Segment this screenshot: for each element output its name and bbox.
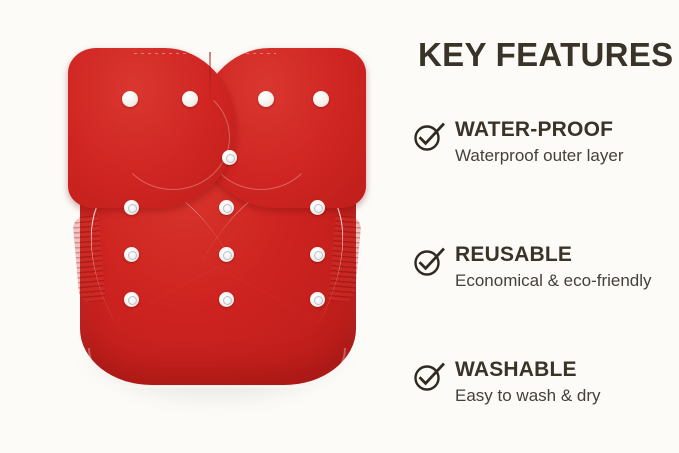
feature-item-washable: WASHABLE Easy to wash & dry [412,358,674,407]
feature-description: Economical & eco-friendly [455,270,655,292]
snap-button-body [219,200,234,215]
snap-button-wing [258,91,274,107]
check-circle-icon [412,119,446,153]
feature-text-block: WASHABLE Easy to wash & dry [455,358,674,407]
product-image-cloth-diaper [0,0,400,453]
feature-title: REUSABLE [455,243,674,267]
feature-description: Easy to wash & dry [455,385,655,407]
snap-button-body [310,200,325,215]
check-circle-icon [412,244,446,278]
snap-button-body [219,292,234,307]
snap-button-wing [122,91,138,107]
feature-text-block: WATER-PROOF Waterproof outer layer [455,118,674,167]
snap-button-body [310,292,325,307]
page-title: KEY FEATURES [418,36,673,74]
top-waist-stitch [134,53,276,54]
feature-text-block: REUSABLE Economical & eco-friendly [455,243,674,292]
center-seam [209,52,211,104]
snap-button-wing [182,91,198,107]
feature-description: Waterproof outer layer [455,145,655,167]
feature-item-reusable: REUSABLE Economical & eco-friendly [412,243,674,292]
snap-button-center [222,150,237,165]
snap-button-body [124,247,139,262]
snap-button-body [124,200,139,215]
features-panel: KEY FEATURES WATER-PROOF Waterproof oute… [400,0,679,453]
diaper-bottom-hem [88,348,346,388]
snap-button-body [310,247,325,262]
feature-item-water-proof: WATER-PROOF Waterproof outer layer [412,118,674,167]
diaper-illustration [62,48,372,388]
check-circle-icon [412,359,446,393]
snap-button-body [124,292,139,307]
feature-title: WATER-PROOF [455,118,674,142]
snap-button-body [219,247,234,262]
snap-button-wing [313,91,329,107]
feature-title: WASHABLE [455,358,674,382]
key-features-infographic: KEY FEATURES WATER-PROOF Waterproof oute… [0,0,679,453]
